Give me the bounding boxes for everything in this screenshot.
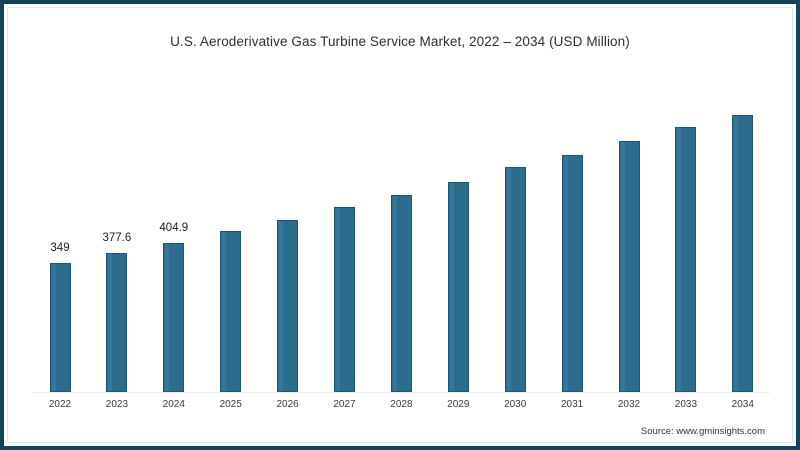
bar-highlight [222,232,226,391]
bar-2024[interactable] [163,243,184,392]
x-axis-label-2030: 2030 [485,399,545,410]
chart-screenshot: U.S. Aeroderivative Gas Turbine Service … [0,0,800,450]
bar-highlight [108,254,112,391]
bar-highlight [336,208,340,391]
bar-value-label-2024: 404.9 [144,222,204,234]
x-axis-line [33,392,770,393]
bar-2025[interactable] [220,231,241,392]
bar-2031[interactable] [562,155,583,392]
bar-highlight [450,183,454,391]
bar-value-label-2023: 377.6 [87,232,147,244]
source-note: Source: www.gminsights.com [641,426,765,437]
bar-2034[interactable] [732,115,753,392]
bar-highlight [621,142,625,391]
x-axis-label-2029: 2029 [428,399,488,410]
bar-2029[interactable] [448,182,469,392]
bar-2023[interactable] [106,253,127,392]
x-axis-label-2024: 2024 [144,399,204,410]
bar-highlight [734,116,738,391]
bar-highlight [279,221,283,391]
x-axis-label-2027: 2027 [315,399,375,410]
x-axis-label-2032: 2032 [599,399,659,410]
bar-highlight [677,128,681,391]
x-axis-label-2025: 2025 [201,399,261,410]
x-axis-label-2033: 2033 [656,399,716,410]
x-axis-label-2034: 2034 [713,399,773,410]
x-axis-label-2031: 2031 [542,399,602,410]
bar-2027[interactable] [334,207,355,392]
bar-2030[interactable] [505,167,526,392]
bar-2022[interactable] [50,263,71,392]
bar-highlight [52,264,56,391]
x-axis-label-2028: 2028 [371,399,431,410]
x-axis-label-2023: 2023 [87,399,147,410]
bar-2028[interactable] [391,195,412,392]
bar-highlight [165,244,169,391]
bar-highlight [507,168,511,391]
bar-value-label-2022: 349 [30,242,90,254]
x-axis-label-2022: 2022 [30,399,90,410]
bar-highlight [564,156,568,391]
bar-2033[interactable] [675,127,696,392]
bar-2026[interactable] [277,220,298,392]
bar-highlight [393,196,397,391]
x-axis-label-2026: 2026 [258,399,318,410]
plot-area: 349377.6404.9 20222023202420252026202720… [0,0,800,450]
bar-2032[interactable] [619,141,640,392]
